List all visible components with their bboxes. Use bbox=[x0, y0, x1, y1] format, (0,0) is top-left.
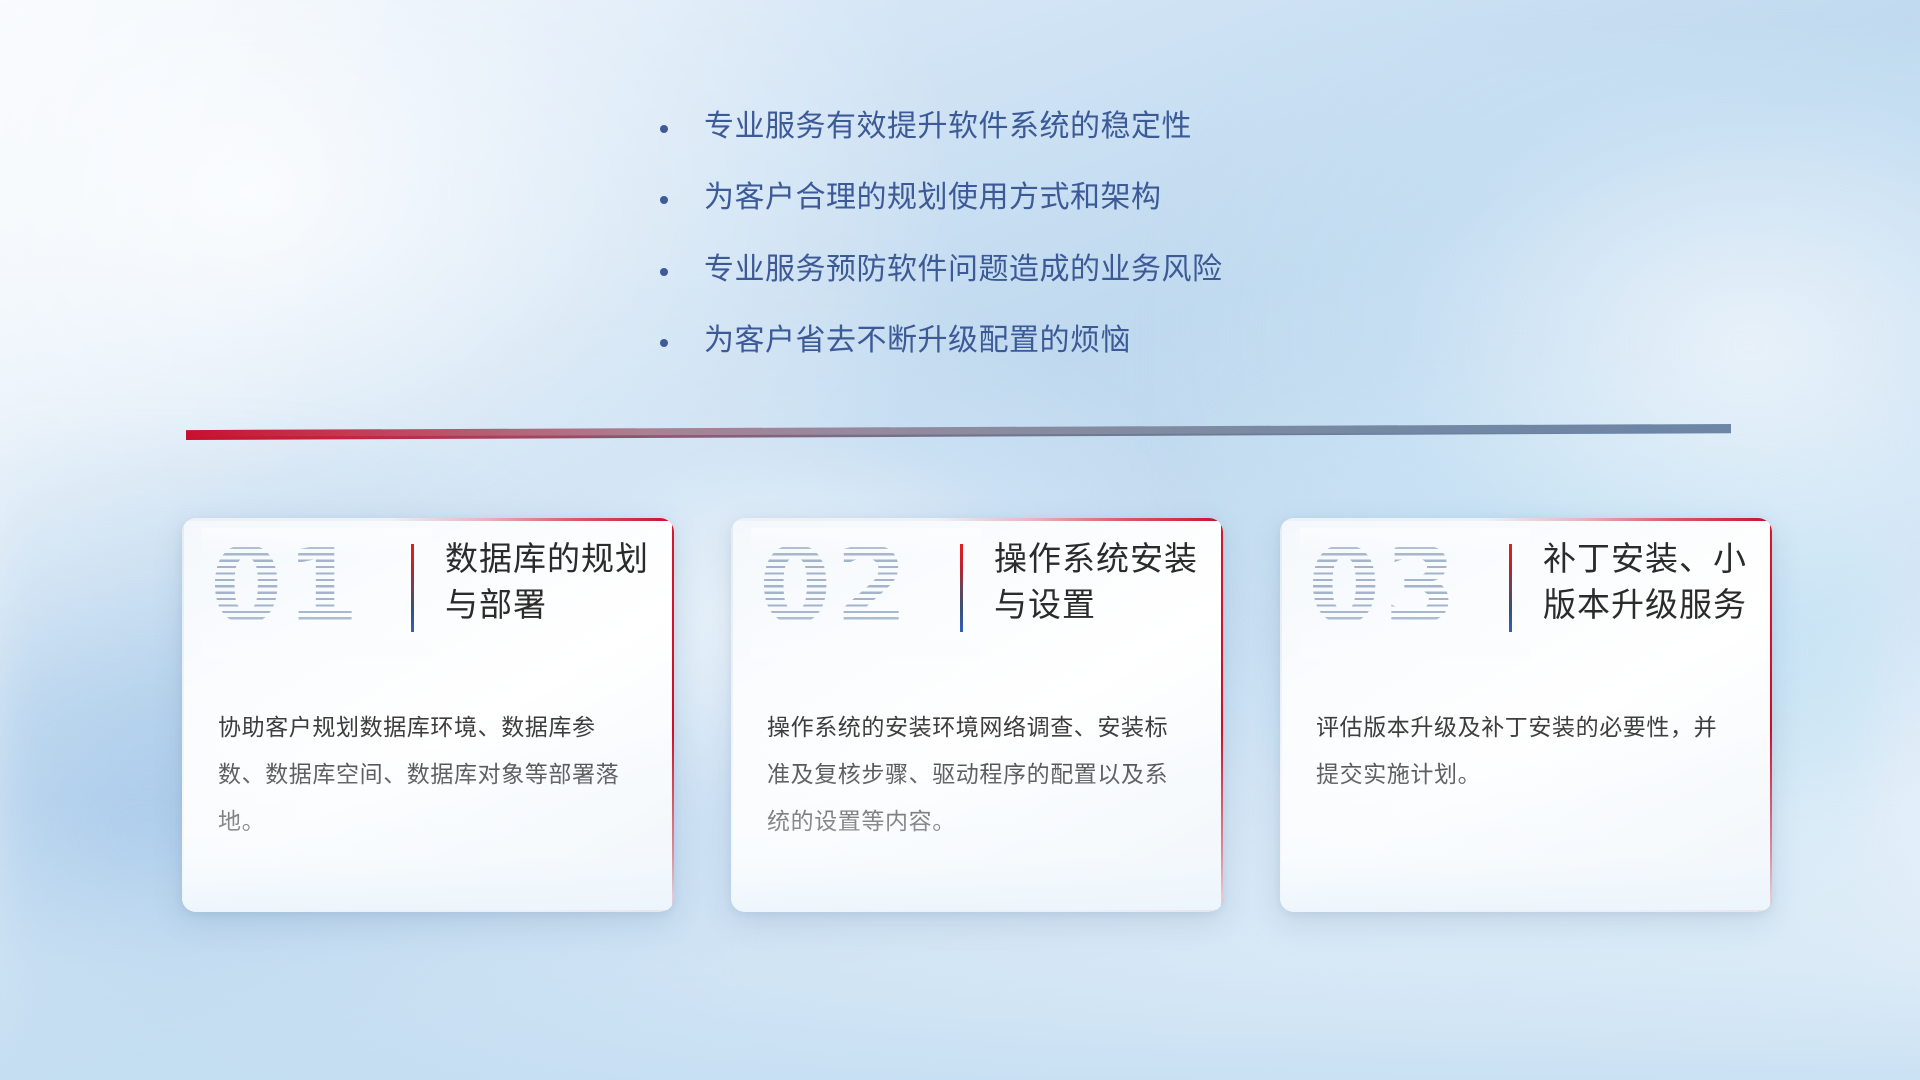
service-card[interactable]: 01 数据库的规划与部署 协助客户规划数据库环境、数据库参数、数据库空间、数据库… bbox=[182, 518, 674, 912]
card-body-text: 操作系统的安装环境网络调查、安装标准及复核步骤、驱动程序的配置以及系统的设置等内… bbox=[767, 704, 1189, 845]
card-number-watermark: 03 bbox=[1308, 534, 1461, 638]
card-number-watermark: 01 bbox=[210, 534, 363, 638]
card-accent-bar bbox=[1509, 544, 1512, 632]
card-header: 01 数据库的规划与部署 bbox=[182, 518, 674, 670]
list-item: 专业服务有效提升软件系统的稳定性 bbox=[660, 106, 1223, 147]
card-title: 操作系统安装与设置 bbox=[994, 536, 1203, 627]
list-item: 为客户省去不断升级配置的烦恼 bbox=[660, 320, 1223, 361]
card-header: 02 操作系统安装与设置 bbox=[731, 518, 1223, 670]
card-accent-bar bbox=[411, 544, 414, 632]
card-accent-bar bbox=[960, 544, 963, 632]
service-card-group: 01 数据库的规划与部署 协助客户规划数据库环境、数据库参数、数据库空间、数据库… bbox=[182, 518, 1772, 912]
card-title: 补丁安装、小版本升级服务 bbox=[1543, 536, 1752, 627]
service-card[interactable]: 02 操作系统安装与设置 操作系统的安装环境网络调查、安装标准及复核步骤、驱动程… bbox=[731, 518, 1223, 912]
list-item: 为客户合理的规划使用方式和架构 bbox=[660, 177, 1223, 218]
card-number-watermark: 02 bbox=[759, 534, 912, 638]
section-divider bbox=[186, 424, 1731, 440]
bullet-dot-icon bbox=[660, 268, 668, 276]
bullet-dot-icon bbox=[660, 125, 668, 133]
benefits-bullet-list: 专业服务有效提升软件系统的稳定性 为客户合理的规划使用方式和架构 专业服务预防软… bbox=[660, 106, 1223, 392]
bullet-dot-icon bbox=[660, 196, 668, 204]
bullet-text: 为客户合理的规划使用方式和架构 bbox=[704, 177, 1162, 218]
card-body-text: 协助客户规划数据库环境、数据库参数、数据库空间、数据库对象等部署落地。 bbox=[218, 704, 640, 845]
card-body-text: 评估版本升级及补丁安装的必要性，并提交实施计划。 bbox=[1316, 704, 1738, 798]
card-edge-bottom bbox=[182, 910, 674, 912]
bullet-text: 为客户省去不断升级配置的烦恼 bbox=[704, 320, 1131, 361]
list-item: 专业服务预防软件问题造成的业务风险 bbox=[660, 249, 1223, 290]
bullet-dot-icon bbox=[660, 339, 668, 347]
card-header: 03 补丁安装、小版本升级服务 bbox=[1280, 518, 1772, 670]
card-edge-bottom bbox=[1280, 910, 1772, 912]
bullet-text: 专业服务预防软件问题造成的业务风险 bbox=[704, 249, 1223, 290]
card-title: 数据库的规划与部署 bbox=[445, 536, 654, 627]
service-card[interactable]: 03 补丁安装、小版本升级服务 评估版本升级及补丁安装的必要性，并提交实施计划。 bbox=[1280, 518, 1772, 912]
bullet-text: 专业服务有效提升软件系统的稳定性 bbox=[704, 106, 1192, 147]
card-edge-bottom bbox=[731, 910, 1223, 912]
